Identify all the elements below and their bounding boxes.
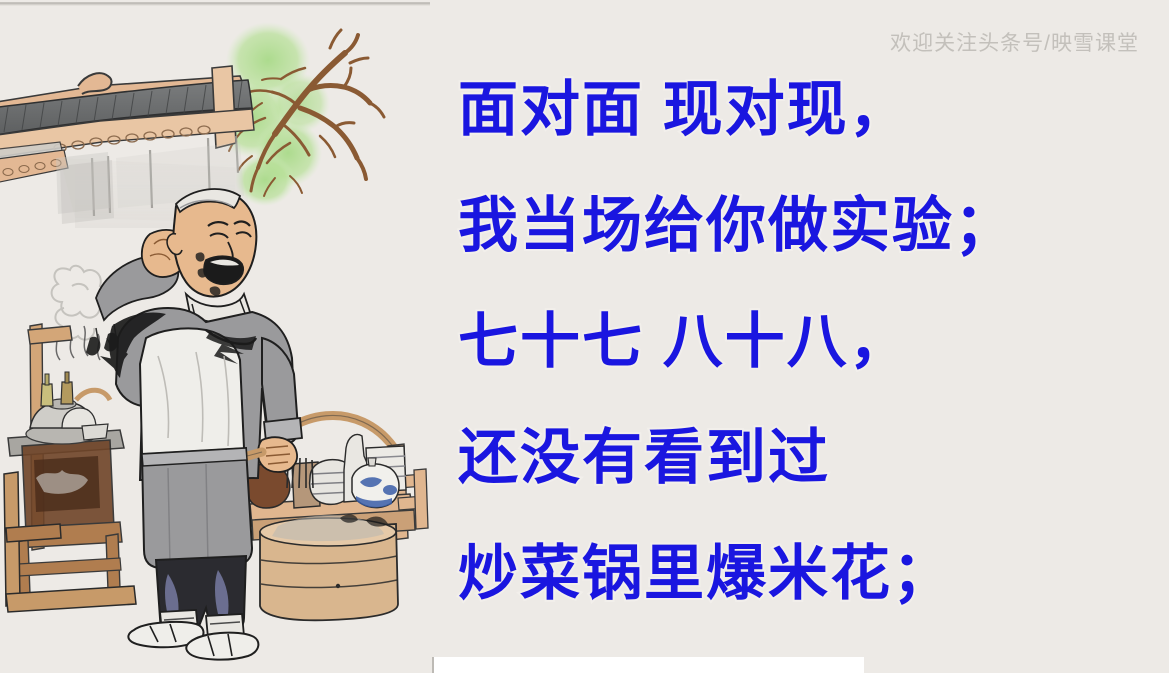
poem-line-3: 七十七 八十八， xyxy=(458,312,1158,372)
stove-cart xyxy=(8,324,124,596)
poem-block: 面对面 现对现， 我当场给你做实验； 七十七 八十八， 还没有看到过 炒菜锅里爆… xyxy=(458,80,1158,604)
street-vendor-illustration xyxy=(0,8,432,668)
channel-watermark: 欢迎关注头条号/映雪课堂 xyxy=(890,27,1139,57)
bottom-white-bar xyxy=(432,657,864,673)
top-divider-line-secondary xyxy=(0,5,430,6)
poem-line-1: 面对面 现对现， xyxy=(458,80,1158,140)
slide-canvas: 欢迎关注头条号/映雪课堂 面对面 现对现， 我当场给你做实验； 七十七 八十八，… xyxy=(0,0,1169,673)
steamer-basket xyxy=(260,514,398,620)
poem-line-5: 炒菜锅里爆米花； xyxy=(458,544,1158,604)
poem-line-2: 我当场给你做实验； xyxy=(458,196,1158,256)
poem-line-4: 还没有看到过 xyxy=(458,428,1158,488)
